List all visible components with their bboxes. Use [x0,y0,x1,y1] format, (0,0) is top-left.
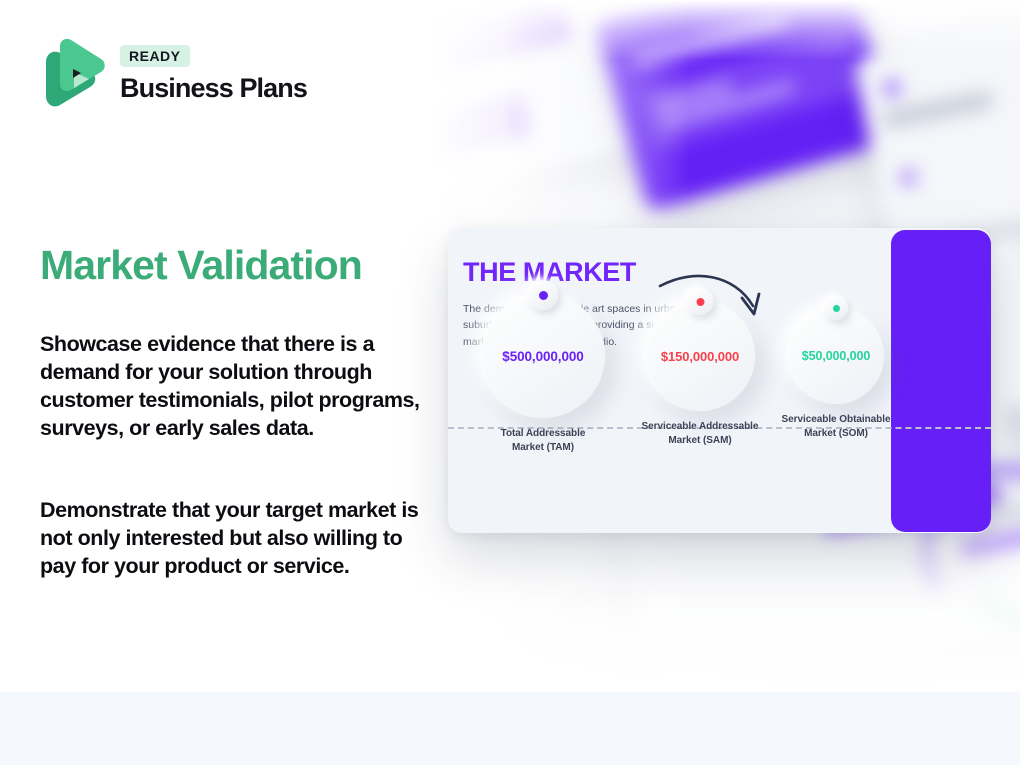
brand-name: Business Plans [120,74,307,102]
brand-lockup: READY Business Plans [40,38,307,110]
metric-sam-bubble: $150,000,000 [645,301,755,411]
metric-som-label-line1: Serviceable Obtainable [782,414,891,425]
metric-tam-knob [528,280,558,310]
slide-canvas: READY Business Plans Market Validation S… [0,0,1020,765]
metric-sam-label-line1: Serviceable Addressable [642,421,759,432]
metric-tam-label: Total Addressable Market (TAM) [463,427,623,454]
metric-som-label: Serviceable Obtainable Market (SOM) [756,413,916,440]
background-slide-purple [592,0,897,212]
metric-som[interactable]: $50,000,000 Serviceable Obtainable Marke… [756,370,916,440]
left-content-column: READY Business Plans Market Validation S… [0,0,440,692]
metric-tam[interactable]: $500,000,000 Total Addressable Market (T… [463,356,623,454]
metric-som-dot [833,305,840,312]
metric-sam-label-line2: Market (SAM) [668,435,731,446]
play-triangles-logo-icon [40,38,106,110]
metric-tam-bubble: $500,000,000 [481,294,605,418]
body-paragraph-1: Showcase evidence that there is a demand… [40,330,420,443]
metric-tam-dot [539,291,548,300]
bottom-band [0,692,1020,765]
ready-badge: READY [120,45,190,67]
market-slide-card[interactable]: THE MARKET The demand for accessible art… [448,228,991,533]
body-paragraph-2: Demonstrate that your target market is n… [40,496,420,580]
metric-som-amount: $50,000,000 [802,349,870,363]
metric-tam-label-line1: Total Addressable [501,428,586,439]
market-metrics-group: $500,000,000 Total Addressable Market (T… [448,228,991,533]
brand-text-block: READY Business Plans [120,45,307,102]
metric-tam-amount: $500,000,000 [502,349,583,364]
page-title: Market Validation [40,243,362,288]
metric-sam-knob [687,288,714,315]
metric-sam-dot [696,298,704,306]
metric-som-knob [824,296,848,320]
metric-tam-label-line2: Market (TAM) [512,442,574,453]
metric-som-label-line2: Market (SOM) [804,428,868,439]
metric-sam-amount: $150,000,000 [661,349,739,364]
background-slide-b [854,25,1020,246]
metric-som-bubble: $50,000,000 [788,308,884,404]
